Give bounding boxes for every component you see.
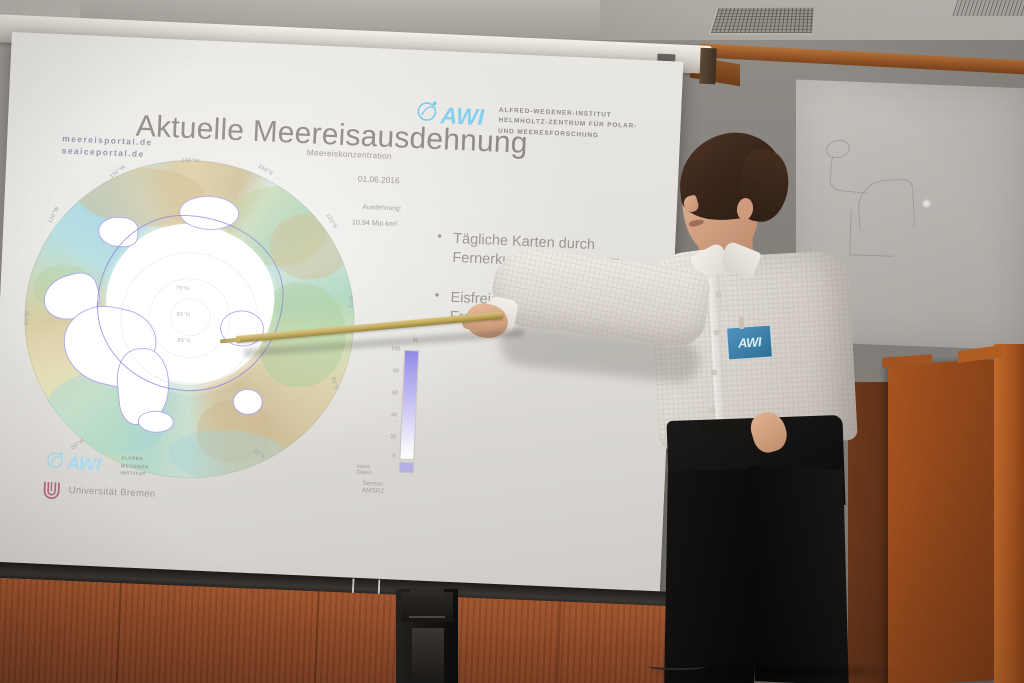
name-badge: AWI [726, 324, 773, 360]
loudspeaker-seam [409, 616, 445, 618]
shirt-button [714, 330, 719, 335]
lecture-room-scene: Aktuelle Meereisausdehnung meereisportal… [0, 0, 1024, 683]
loudspeaker-top-module [401, 592, 453, 622]
loudspeaker-cap [410, 588, 444, 596]
lectern-front-panel[interactable] [888, 359, 998, 683]
shirt-button [712, 370, 717, 375]
shirt-button [716, 292, 721, 297]
floor-cable [648, 660, 706, 670]
presenter-leg-left [664, 468, 758, 683]
shirt-button [710, 408, 715, 413]
badge-awi-label: AWI [737, 334, 761, 351]
presenter-leg-right [749, 466, 849, 683]
loudspeaker-port [412, 628, 444, 683]
badge-clip-icon [739, 317, 745, 329]
lectern-right-edge [994, 344, 1024, 683]
